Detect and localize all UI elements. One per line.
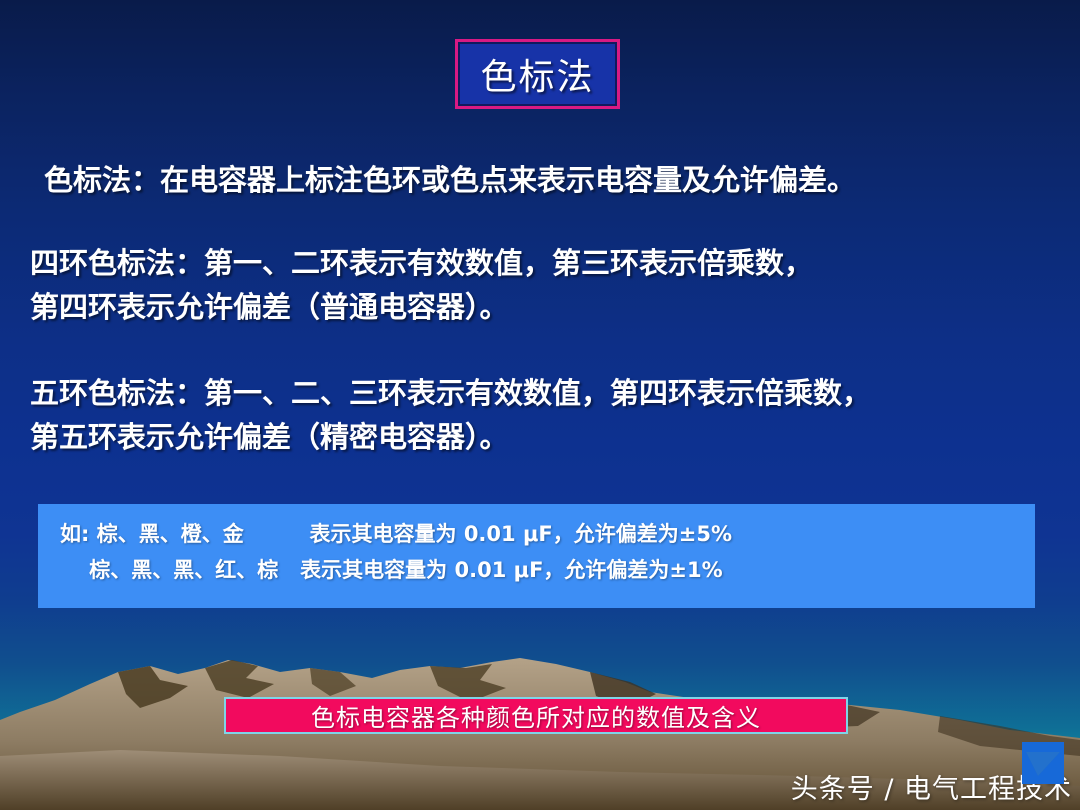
paragraph-five-band-method: 五环色标法：第一、二、三环表示有效数值，第四环表示倍乘数， 第五环表示允许偏差（… (30, 371, 1075, 459)
example-callout-box: 如: 棕、黑、橙、金 表示其电容量为 0.01 μF，允许偏差为±5% 棕、黑、… (38, 504, 1035, 608)
mountain-facet-3 (310, 668, 356, 696)
bottom-banner-label: 色标电容器各种颜色所对应的数值及含义 (311, 698, 761, 733)
paragraph-color-code-definition: 色标法：在电容器上标注色环或色点来表示电容量及允许偏差。 (44, 158, 1044, 202)
watermark: 头条号 / 电气工程技术 (791, 767, 1072, 806)
mountain-facet-2 (205, 660, 274, 698)
example-line-four-band: 如: 棕、黑、橙、金 表示其电容量为 0.01 μF，允许偏差为±5% (38, 516, 1035, 552)
bottom-banner[interactable]: 色标电容器各种颜色所对应的数值及含义 (224, 697, 848, 734)
page-title: 色标法 (480, 48, 594, 100)
example-line-five-band: 棕、黑、黑、红、棕 表示其电容量为 0.01 μF，允许偏差为±1% (38, 552, 1035, 588)
slide-title-box: 色标法 (455, 39, 620, 109)
slide-canvas: 色标法 色标法：在电容器上标注色环或色点来表示电容量及允许偏差。 四环色标法：第… (0, 0, 1080, 810)
paragraph-four-band-method: 四环色标法：第一、二环表示有效数值，第三环表示倍乘数， 第四环表示允许偏差（普通… (30, 241, 1065, 329)
mountain-facet-1 (118, 666, 188, 708)
triangle-logo-icon (1022, 742, 1064, 784)
